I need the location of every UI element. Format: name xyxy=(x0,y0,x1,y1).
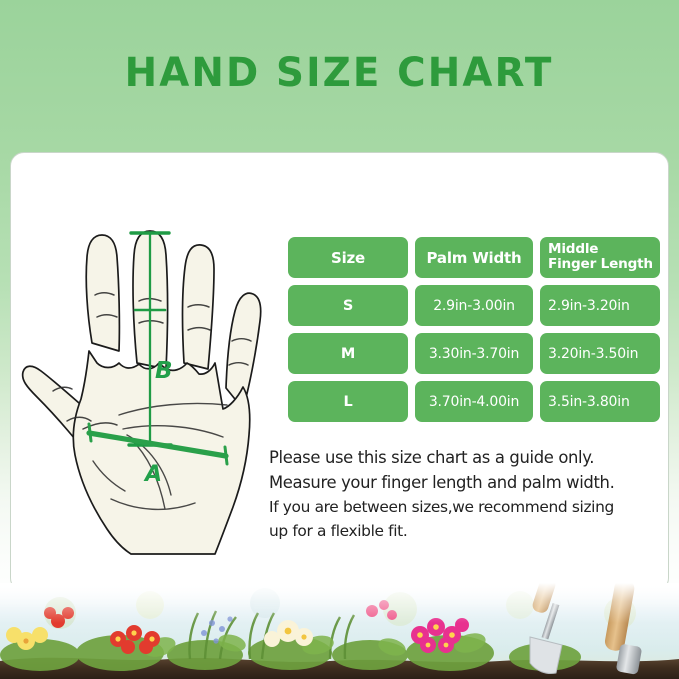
hand-size-chart-poster: HAND SIZE CHART xyxy=(0,0,679,679)
table-header-row: Size Palm Width Middle Finger Length xyxy=(288,237,660,278)
note-line-3: If you are between sizes,we recommend si… xyxy=(269,495,669,519)
header-middle-finger-length-line1: Middle xyxy=(548,242,660,257)
table-row: L 3.70in-4.00in 3.5in-3.80in xyxy=(288,381,660,422)
hand-illustration: B A xyxy=(19,173,281,573)
cell-size-m: M xyxy=(288,333,408,374)
garden-photo-strip xyxy=(0,583,679,679)
table-row: S 2.9in-3.00in 2.9in-3.20in xyxy=(288,285,660,326)
cell-palm-width-m: 3.30in-3.70in xyxy=(415,333,533,374)
cell-finger-length-s: 2.9in-3.20in xyxy=(540,285,660,326)
page-title: HAND SIZE CHART xyxy=(125,50,554,96)
cell-finger-length-m: 3.20in-3.50in xyxy=(540,333,660,374)
note-line-1: Please use this size chart as a guide on… xyxy=(269,445,669,470)
note-line-2: Measure your finger length and palm widt… xyxy=(269,470,669,495)
cell-finger-length-l: 3.5in-3.80in xyxy=(540,381,660,422)
guidance-note: Please use this size chart as a guide on… xyxy=(269,445,669,543)
cell-size-l: L xyxy=(288,381,408,422)
note-line-4: up for a flexible fit. xyxy=(269,519,669,543)
measure-b-label: B xyxy=(155,358,173,384)
measure-a-label: A xyxy=(143,462,162,487)
cell-palm-width-l: 3.70in-4.00in xyxy=(415,381,533,422)
header-middle-finger-length-line2: Finger Length xyxy=(548,257,660,272)
content-card: B A Size Palm Width Middle Finger Length xyxy=(10,152,669,592)
cell-palm-width-s: 2.9in-3.00in xyxy=(415,285,533,326)
header-middle-finger-length: Middle Finger Length xyxy=(540,237,660,278)
header-size: Size xyxy=(288,237,408,278)
size-table: Size Palm Width Middle Finger Length S 2… xyxy=(288,237,660,429)
table-row: M 3.30in-3.70in 3.20in-3.50in xyxy=(288,333,660,374)
header-palm-width: Palm Width xyxy=(415,237,533,278)
title-area: HAND SIZE CHART xyxy=(0,0,679,146)
cell-size-s: S xyxy=(288,285,408,326)
